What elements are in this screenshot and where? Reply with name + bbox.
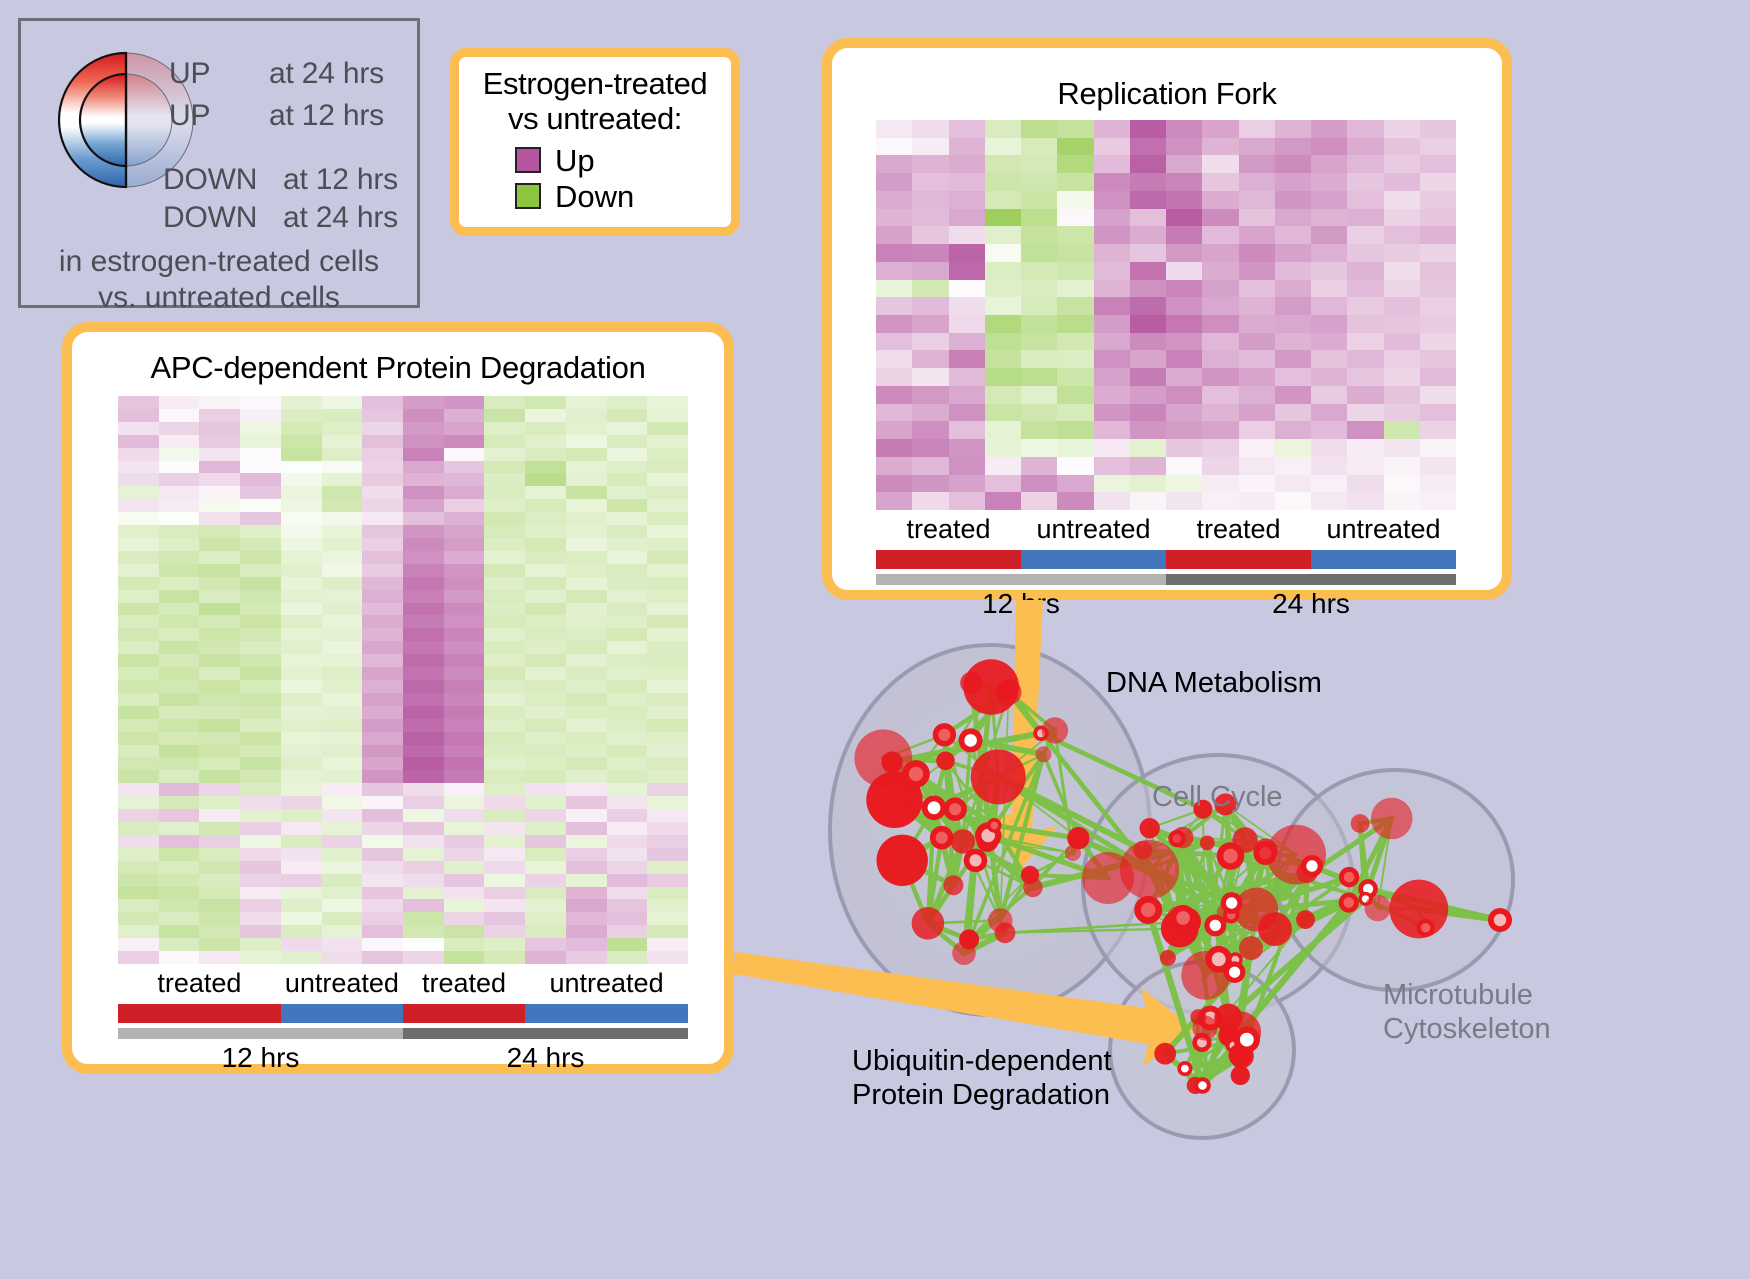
- network-node: [1167, 906, 1192, 931]
- network-node: [1067, 827, 1089, 849]
- network-node: [1231, 1066, 1250, 1085]
- cluster-label-cell-cycle: Cell Cycle: [1152, 780, 1283, 814]
- cluster-label-dna-metabolism: DNA Metabolism: [1106, 666, 1322, 700]
- network-node-core: [1229, 967, 1240, 978]
- network-node-core: [1181, 1065, 1189, 1073]
- network-node: [943, 875, 963, 895]
- network-node-core: [928, 801, 941, 814]
- network-node-core: [949, 803, 961, 815]
- cluster-label-ubiquitin: Ubiquitin-dependent Protein Degradation: [852, 1044, 1112, 1112]
- network-node: [960, 672, 982, 694]
- network-node-core: [1344, 872, 1355, 883]
- network-node: [877, 835, 928, 886]
- network-node-core: [990, 822, 998, 830]
- cluster-label-microtubule: Microtubule Cytoskeleton: [1383, 978, 1551, 1046]
- network-node: [959, 929, 979, 949]
- network-node: [1042, 717, 1068, 743]
- network-node-core: [969, 854, 981, 866]
- network-node-core: [1240, 1033, 1254, 1047]
- network-node: [1082, 852, 1134, 904]
- network-node: [988, 908, 1012, 932]
- network-node: [912, 907, 945, 940]
- network-node: [1140, 818, 1160, 838]
- network-node: [936, 752, 955, 771]
- network-node-core: [964, 734, 977, 747]
- network-node: [1371, 798, 1413, 840]
- network-node: [1214, 1004, 1242, 1032]
- network-node-core: [1226, 897, 1237, 908]
- network-node: [1036, 746, 1052, 762]
- network-node-core: [1210, 920, 1221, 931]
- network-node: [1134, 841, 1153, 860]
- network-node-core: [1212, 952, 1226, 966]
- network-node: [1258, 912, 1292, 946]
- network-node-core: [1306, 860, 1317, 871]
- network-node: [881, 751, 902, 772]
- network-node-core: [938, 729, 950, 741]
- network-node: [1200, 836, 1215, 851]
- network-node-core: [1141, 903, 1156, 918]
- network-node-core: [1198, 1081, 1207, 1090]
- network-node: [971, 749, 1026, 804]
- network-node-core: [936, 832, 948, 844]
- network-node: [1154, 1043, 1176, 1065]
- network-node: [1172, 827, 1194, 849]
- network-node: [1192, 1016, 1217, 1041]
- network-node: [996, 679, 1022, 705]
- network-node-core: [1494, 914, 1506, 926]
- network-node: [1351, 814, 1370, 833]
- network-node: [1254, 838, 1278, 862]
- network-node: [1365, 895, 1391, 921]
- network-node-core: [1421, 923, 1430, 932]
- network-node: [1239, 936, 1263, 960]
- network-node: [1296, 910, 1315, 929]
- network-node: [951, 829, 975, 853]
- network-node-core: [909, 767, 923, 781]
- network-node: [1021, 866, 1039, 884]
- network-node-core: [1223, 849, 1237, 863]
- network-node: [1160, 950, 1176, 966]
- network-node-core: [1344, 897, 1355, 908]
